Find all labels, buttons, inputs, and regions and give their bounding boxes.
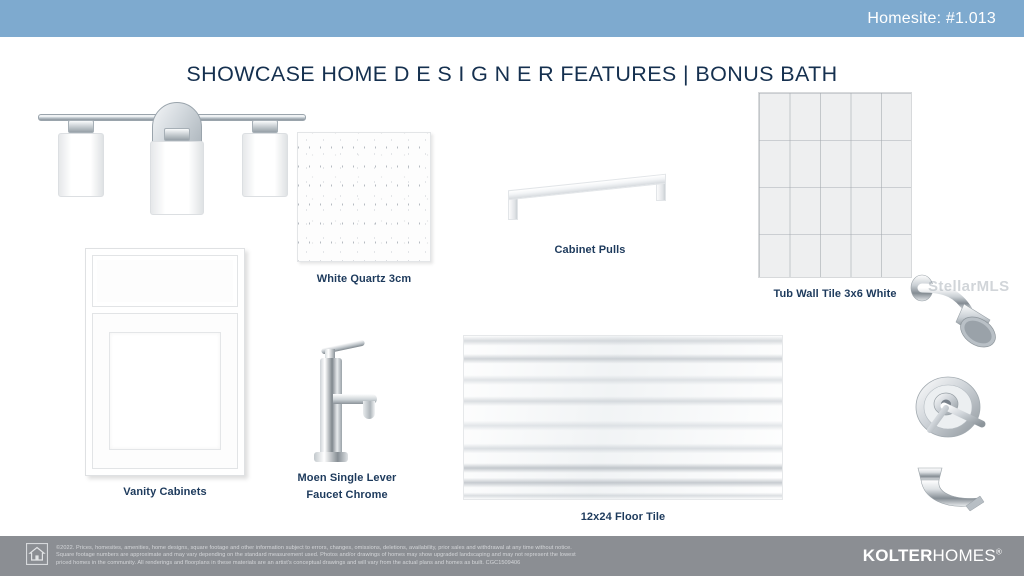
white-quartz-swatch xyxy=(297,132,431,262)
logo-kolter-text: KOLTER xyxy=(863,546,933,565)
vanity-light-fixture-image xyxy=(30,96,315,196)
disclaimer-line-3: priced homes in the community. All rende… xyxy=(56,560,853,567)
faucet-spout-tip xyxy=(363,401,375,419)
page-title: SHOWCASE HOME D E S I G N E R FEATURES |… xyxy=(0,62,1024,87)
cabinet-drawer-front xyxy=(92,255,238,307)
disclaimer-line-1: ©2022. Prices, homesites, amenities, hom… xyxy=(56,545,853,552)
light-neck xyxy=(164,128,190,141)
kolter-homes-logo: KOLTERHOMES® xyxy=(863,546,1002,566)
light-neck xyxy=(68,120,94,133)
faucet-caption-line2: Faucet Chrome xyxy=(287,489,407,502)
top-banner: Homesite: #1.013 xyxy=(0,0,1024,37)
homesite-label: Homesite: #1.013 xyxy=(867,10,1024,28)
disclaimer-line-2: Square footage numbers are approximate a… xyxy=(56,552,853,559)
equal-housing-opportunity-icon xyxy=(26,543,48,570)
product-white-quartz: White Quartz 3cm xyxy=(297,132,431,286)
vanity-cabinet-door-image xyxy=(85,248,245,476)
logo-registered-mark: ® xyxy=(996,547,1002,556)
floor-tile-swatch xyxy=(463,335,783,500)
footer-bar: ©2022. Prices, homesites, amenities, hom… xyxy=(0,536,1024,576)
legal-disclaimer: ©2022. Prices, homesites, amenities, hom… xyxy=(56,545,863,567)
vanity-cabinets-caption: Vanity Cabinets xyxy=(72,486,258,499)
light-neck xyxy=(252,120,278,133)
shower-valve-trim-icon xyxy=(900,368,1010,446)
cabinet-pull-image xyxy=(490,170,690,226)
cabinet-recessed-panel xyxy=(109,332,221,450)
light-glass-shade xyxy=(58,133,104,197)
cabinet-pulls-caption: Cabinet Pulls xyxy=(490,244,690,257)
product-floor-tile: 12x24 Floor Tile xyxy=(463,335,783,524)
white-quartz-caption: White Quartz 3cm xyxy=(297,273,431,286)
faucet-base xyxy=(314,452,348,462)
floor-tile-caption: 12x24 Floor Tile xyxy=(463,511,783,524)
shower-head-icon xyxy=(906,268,1018,354)
light-shade-center xyxy=(150,128,204,215)
cabinet-pull-bar xyxy=(508,174,666,201)
product-cabinet-pulls: Cabinet Pulls xyxy=(490,170,690,257)
light-glass-shade xyxy=(150,141,204,215)
product-faucet: Moen Single Lever Faucet Chrome xyxy=(287,336,407,501)
faucet-image xyxy=(287,336,407,468)
light-shade-left xyxy=(58,120,104,197)
product-tub-wall-tile: Tub Wall Tile 3x6 White xyxy=(758,92,912,301)
product-vanity-cabinets: Vanity Cabinets xyxy=(72,248,258,499)
faucet-body xyxy=(320,358,342,460)
logo-homes-text: HOMES xyxy=(933,546,996,565)
faucet-caption-line1: Moen Single Lever xyxy=(287,472,407,485)
tub-wall-tile-swatch xyxy=(758,92,912,278)
light-glass-shade xyxy=(242,133,288,197)
light-shade-right xyxy=(242,120,288,197)
tub-spout-icon xyxy=(906,458,1016,514)
cabinet-door-frame xyxy=(92,313,238,469)
tub-wall-tile-caption: Tub Wall Tile 3x6 White xyxy=(758,288,912,301)
